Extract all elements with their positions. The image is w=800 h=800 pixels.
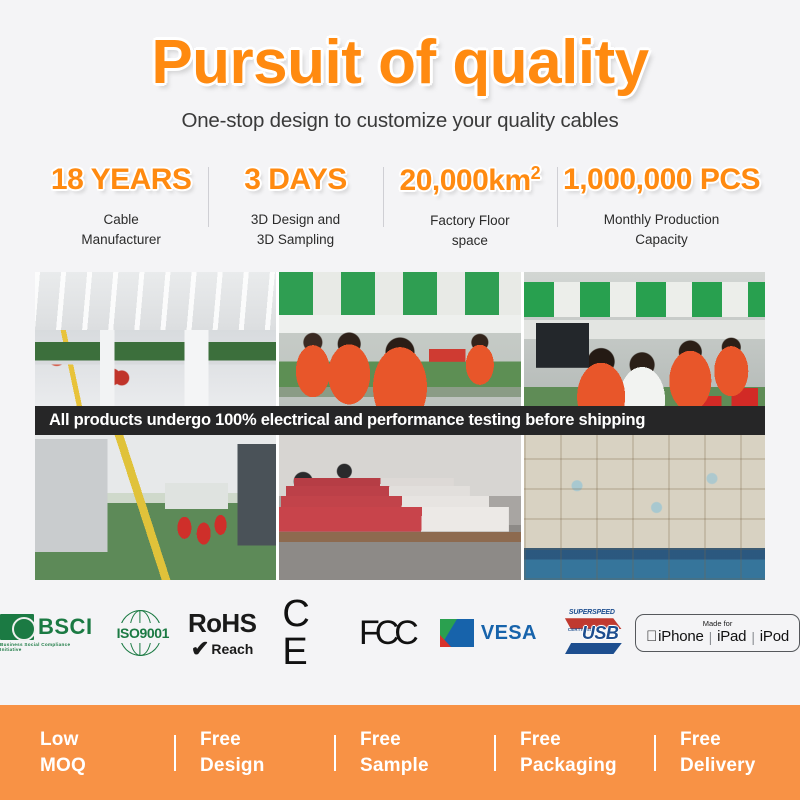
stat-value: 20,000km2	[389, 163, 551, 198]
service-item-free-packaging: Free Packaging	[480, 727, 640, 778]
stat-item-floorspace: 20,000km2 Factory Floor space	[383, 163, 557, 250]
fcc-label: FCC	[359, 616, 414, 650]
bsci-main-row: BSCI	[0, 614, 93, 640]
apple-logo-icon: 	[646, 629, 657, 644]
device-ipod: iPod	[760, 628, 789, 645]
stat-item-capacity: 1,000,000 PCS Monthly Production Capacit…	[557, 163, 766, 249]
stat-label: 3D Design and 3D Sampling	[214, 210, 376, 249]
bsci-globe-icon	[0, 614, 34, 640]
photo-gallery: All products undergo 100% electrical and…	[35, 272, 765, 580]
stat-item-years: 18 YEARS Cable Manufacturer	[34, 163, 208, 249]
device-iphone: iPhone	[658, 628, 704, 645]
iso9001-logo: ISO9001	[119, 610, 162, 656]
service-item-free-design: Free Design	[160, 727, 320, 778]
ce-logo: C E	[282, 595, 333, 671]
conveyor-packaging-photo	[279, 435, 520, 580]
made-for-apple-badge: Made for  iPhone | iPad | iPod	[635, 614, 800, 653]
vesa-checkmark-icon	[440, 619, 474, 647]
service-item-free-delivery: Free Delivery	[640, 727, 800, 778]
usb-label: USB	[582, 623, 619, 644]
stats-row: 18 YEARS Cable Manufacturer 3 DAYS 3D De…	[34, 163, 766, 250]
device-separator: |	[709, 629, 712, 645]
device-ipad: iPad	[717, 628, 746, 645]
stat-value: 1,000,000 PCS	[563, 163, 760, 197]
bsci-label: BSCI	[38, 614, 93, 640]
reach-label: Reach	[211, 641, 253, 657]
usb-superspeed-label: SUPERSPEED	[569, 609, 615, 616]
check-icon: ✔	[191, 640, 209, 658]
vesa-logo: VESA	[440, 619, 537, 647]
made-for-label: Made for	[703, 620, 733, 628]
stat-item-days: 3 DAYS 3D Design and 3D Sampling	[208, 163, 382, 249]
page-title: Pursuit of quality	[0, 30, 800, 95]
stat-superscript: 2	[531, 163, 541, 183]
service-item-free-sample: Free Sample	[320, 727, 480, 778]
bsci-logo: BSCI Business Social Compliance Initiati…	[0, 614, 93, 652]
usb-superspeed-logo: SUPERSPEED CERTIFIED USB	[563, 608, 609, 658]
page-subtitle: One-stop design to customize your qualit…	[0, 109, 800, 133]
photo-caption-banner: All products undergo 100% electrical and…	[35, 406, 765, 435]
stat-label: Factory Floor space	[389, 211, 551, 250]
fcc-logo: FCC	[359, 616, 414, 650]
vesa-label: VESA	[481, 622, 537, 645]
rohs-reach-row: ✔ Reach	[191, 640, 253, 658]
stat-value: 18 YEARS	[40, 163, 202, 197]
warehouse-boxes-photo	[524, 435, 765, 580]
rohs-logo: RoHS ✔ Reach	[188, 608, 256, 658]
rohs-label: RoHS	[188, 608, 256, 639]
iso-label: ISO9001	[117, 623, 164, 643]
header-section: Pursuit of quality One-stop design to cu…	[0, 0, 800, 133]
ce-label: C E	[282, 595, 333, 671]
stat-label: Cable Manufacturer	[40, 210, 202, 249]
apple-devices-row:  iPhone | iPad | iPod	[646, 628, 789, 645]
services-bar: Low MOQ Free Design Free Sample Free Pac…	[0, 705, 800, 800]
stat-value: 3 DAYS	[214, 163, 376, 197]
service-item-low-moq: Low MOQ	[0, 727, 160, 778]
stat-label: Monthly Production Capacity	[563, 210, 760, 249]
certifications-row: BSCI Business Social Compliance Initiati…	[0, 602, 800, 664]
device-separator: |	[751, 629, 754, 645]
smt-production-line-photo	[35, 435, 276, 580]
bsci-subtitle: Business Social Compliance Initiative	[0, 642, 93, 652]
